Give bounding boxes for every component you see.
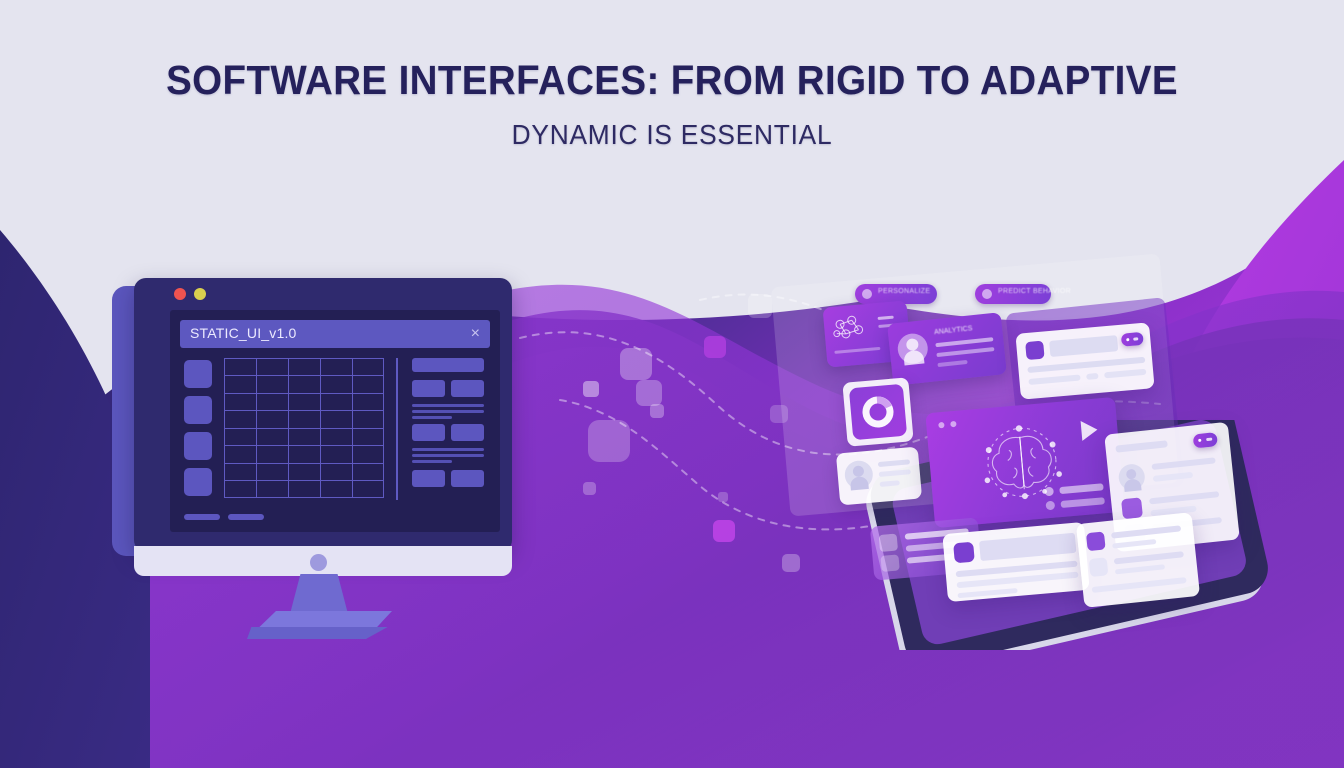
profile-line-1 bbox=[878, 459, 910, 467]
white-card-line-4 bbox=[1104, 369, 1146, 379]
sidebar-item-1[interactable] bbox=[184, 360, 212, 388]
camera-dot-icon bbox=[310, 554, 327, 571]
sidebar-item-2[interactable] bbox=[184, 396, 212, 424]
panel-block-1[interactable] bbox=[412, 380, 445, 397]
profile-line-3 bbox=[880, 480, 900, 487]
right-line-3 bbox=[1114, 551, 1184, 564]
play-triangle-icon[interactable] bbox=[1074, 416, 1102, 444]
traffic-light-minimize-dot[interactable] bbox=[194, 288, 206, 300]
monitor-frame: STATIC_UI_v1.0 × bbox=[134, 278, 512, 552]
side-line-1 bbox=[1115, 440, 1167, 452]
user-avatar-icon bbox=[1117, 463, 1146, 492]
profile-card-label: ANALYTICS bbox=[934, 325, 973, 336]
monitor-chin bbox=[134, 546, 512, 576]
white-card-top[interactable] bbox=[1015, 322, 1154, 399]
donut-chart-icon bbox=[859, 393, 896, 432]
floating-ui-cards: PERSONALIZE PREDICT BEHAVIOR A bbox=[760, 250, 1344, 670]
panel-block-2[interactable] bbox=[451, 380, 484, 397]
profile-card-right[interactable] bbox=[1076, 512, 1200, 608]
white-card-line-2 bbox=[1028, 374, 1080, 385]
sidebar-item-4[interactable] bbox=[184, 468, 212, 496]
thumbnail-icon bbox=[1025, 341, 1045, 361]
right-line-4 bbox=[1115, 564, 1165, 574]
toggle-switch[interactable] bbox=[1193, 432, 1218, 448]
chart-icon bbox=[879, 534, 898, 553]
thumbnail-icon-2 bbox=[1089, 557, 1109, 577]
chart-icon-2 bbox=[880, 554, 899, 572]
data-table-grid[interactable] bbox=[224, 358, 384, 498]
thumbnail-icon bbox=[1121, 497, 1143, 519]
panel-block-3[interactable] bbox=[412, 424, 445, 441]
network-line-3 bbox=[834, 347, 880, 354]
user-avatar-icon bbox=[844, 460, 874, 490]
white-card-title-line bbox=[1049, 335, 1118, 357]
sidebar-item-3[interactable] bbox=[184, 432, 212, 460]
side-line-4 bbox=[1149, 491, 1219, 504]
desktop-monitor: STATIC_UI_v1.0 × bbox=[112, 278, 512, 578]
list-line-2 bbox=[1060, 497, 1104, 508]
poster-canvas: SOFTWARE INTERFACES: FROM RIGID TO ADAPT… bbox=[0, 0, 1344, 768]
window-titlebar: STATIC_UI_v1.0 × bbox=[180, 320, 490, 348]
list-bullet-2 bbox=[1045, 501, 1055, 511]
profile-card-top[interactable]: ANALYTICS bbox=[887, 312, 1007, 386]
pill-predict-behavior[interactable]: PREDICT BEHAVIOR bbox=[975, 284, 1051, 304]
right-line-1 bbox=[1111, 525, 1181, 538]
status-dot-icon bbox=[982, 289, 992, 299]
monitor-screen: STATIC_UI_v1.0 × bbox=[170, 310, 500, 532]
close-icon[interactable]: × bbox=[471, 324, 480, 344]
thumbnail-icon bbox=[953, 542, 975, 564]
toggle-switch[interactable] bbox=[1121, 332, 1144, 347]
footer-bar-2 bbox=[228, 514, 264, 520]
window-dot-1 bbox=[938, 422, 945, 429]
panel-block-4[interactable] bbox=[451, 424, 484, 441]
page-title: SOFTWARE INTERFACES: FROM RIGID TO ADAPT… bbox=[40, 60, 1303, 101]
pill-label: PREDICT BEHAVIOR bbox=[998, 288, 1071, 295]
window-title-label: STATIC_UI_v1.0 bbox=[190, 325, 297, 341]
header-block: SOFTWARE INTERFACES: FROM RIGID TO ADAPT… bbox=[0, 60, 1344, 151]
right-line-5 bbox=[1092, 577, 1187, 593]
network-line-1 bbox=[878, 316, 894, 320]
window-content bbox=[180, 354, 490, 522]
panel-header-block bbox=[412, 358, 484, 372]
white-card-bottom[interactable] bbox=[942, 522, 1089, 602]
user-avatar-icon bbox=[896, 332, 929, 365]
profile-line-1 bbox=[935, 337, 993, 347]
panel-block-6[interactable] bbox=[451, 470, 484, 487]
thumbnail-icon bbox=[1086, 531, 1106, 551]
side-line-3 bbox=[1153, 472, 1193, 482]
profile-card-left[interactable] bbox=[836, 447, 922, 506]
right-line-2 bbox=[1112, 539, 1156, 549]
profile-line-3 bbox=[937, 360, 967, 367]
traffic-light-close-dot[interactable] bbox=[174, 288, 186, 300]
bottom-title-line bbox=[979, 533, 1076, 561]
ai-brain-card[interactable] bbox=[925, 397, 1124, 528]
brain-icon bbox=[973, 419, 1071, 505]
bottom-line-3 bbox=[957, 588, 1017, 598]
window-dot-2 bbox=[950, 421, 957, 428]
white-card-line-3 bbox=[1086, 373, 1098, 380]
donut-card[interactable] bbox=[842, 377, 913, 447]
footer-bar-1 bbox=[184, 514, 220, 520]
status-dot-icon bbox=[862, 289, 872, 299]
panel-block-5[interactable] bbox=[412, 470, 445, 487]
network-nodes-icon bbox=[831, 314, 867, 343]
pill-label: PERSONALIZE bbox=[878, 288, 930, 295]
side-line-2 bbox=[1151, 457, 1215, 470]
profile-line-2 bbox=[936, 347, 994, 357]
panel-divider bbox=[396, 358, 398, 500]
profile-line-2 bbox=[879, 469, 911, 477]
page-subtitle: DYNAMIC IS ESSENTIAL bbox=[40, 119, 1303, 151]
